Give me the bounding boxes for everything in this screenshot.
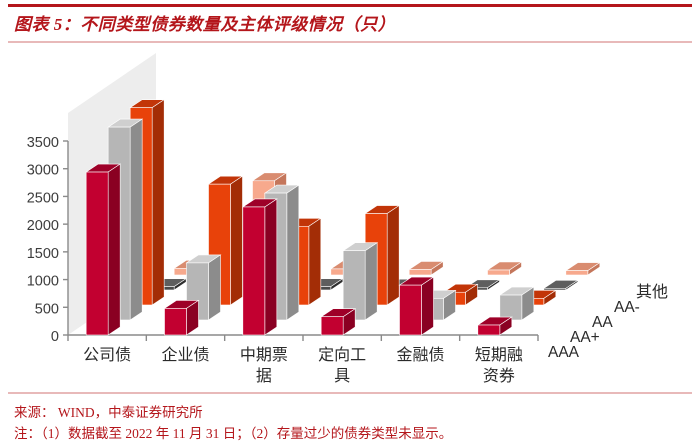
x-axis-category-label: 定向工 (318, 346, 366, 364)
x-axis-category-label: 据 (256, 367, 272, 385)
y-axis-tick-label: 3000 (27, 163, 59, 179)
page-title: 图表 5：不同类型债券数量及主体评级情况（只） (14, 10, 395, 35)
bar-其他-金融债 (488, 262, 522, 275)
y-axis-tick-label: 3500 (27, 135, 59, 151)
x-axis-category-label: 短期融 (475, 346, 523, 364)
header-rule-bottom (8, 41, 692, 43)
bar-AAA-公司债 (86, 164, 120, 335)
bar-side-face (309, 218, 321, 305)
x-axis-category-label: 金融债 (396, 346, 444, 364)
bar-side-face (387, 206, 399, 305)
bar-front-face (478, 325, 500, 335)
bar-side-face (108, 164, 120, 335)
x-axis-category-label: 资券 (483, 367, 515, 385)
bar-chart-3d: 0500100015002000250030003500公司债企业债中期票据定向… (0, 48, 700, 388)
depth-axis-legend: AAAAA+AAAA-其他 (548, 283, 668, 361)
bar-front-face (400, 285, 422, 335)
bar-side-face (231, 176, 243, 305)
chart-footer: 来源： WIND，中泰证券研究所 注：（1）数据截至 2022 年 11 月 3… (0, 392, 700, 445)
chart-plot-area: 0500100015002000250030003500公司债企业债中期票据定向… (0, 48, 700, 388)
y-axis-tick-label: 1500 (27, 246, 59, 262)
depth-axis-label-AAA: AAA (548, 344, 580, 361)
depth-axis-label-AA+: AA+ (570, 329, 600, 346)
chart-header: 图表 5：不同类型债券数量及主体评级情况（只） (0, 0, 700, 46)
bar-AAA-企业债 (165, 300, 199, 335)
bar-AAA-定向工具 (321, 309, 355, 335)
bar-AAA-短期融资券 (478, 317, 512, 335)
y-axis-tick-label: 1000 (27, 274, 59, 290)
bar-其他-定向工具 (409, 261, 443, 275)
bar-side-face (365, 243, 377, 320)
bar-front-face (165, 308, 187, 335)
bar-side-face (209, 255, 221, 320)
note-text: 注：（1）数据截至 2022 年 11 月 31 日；（2）存量过少的债券类型未… (14, 422, 452, 442)
bar-AA+-短期融资券 (500, 287, 534, 320)
bar-front-face (243, 207, 265, 335)
x-axis-category-label: 中期票 (240, 346, 288, 364)
value-axis: 0500100015002000250030003500 (27, 135, 68, 345)
bar-其他-短期融资券 (566, 263, 600, 275)
depth-axis-label-AA: AA (592, 314, 613, 331)
bar-front-face (566, 271, 588, 275)
y-axis-tick-label: 2500 (27, 190, 59, 206)
bar-side-face (287, 185, 299, 320)
bar-front-face (500, 295, 522, 320)
y-axis-tick-label: 500 (35, 301, 59, 317)
bar-front-face (488, 270, 510, 275)
bar-AAA-中期票据 (243, 199, 277, 335)
header-rule-top (8, 4, 692, 7)
bar-side-face (152, 100, 164, 305)
bar-front-face (409, 269, 431, 275)
bar-AAA-金融债 (400, 277, 434, 335)
x-axis-category-label: 具 (334, 368, 350, 385)
y-axis-tick-label: 0 (51, 329, 59, 345)
footer-rule (8, 392, 692, 394)
bar-side-face (130, 119, 142, 320)
depth-axis-label-AA-: AA- (614, 299, 640, 316)
bar-side-face (422, 277, 434, 335)
bar-front-face (86, 172, 108, 335)
x-axis-category-label: 企业债 (161, 346, 209, 364)
y-axis-tick-label: 2000 (27, 218, 59, 234)
bar-front-face (544, 288, 566, 290)
bar-AA--短期融资券 (544, 280, 578, 290)
x-axis-category-label: 公司债 (83, 346, 131, 364)
source-text: 来源： WIND，中泰证券研究所 (14, 401, 203, 421)
bar-front-face (321, 317, 343, 335)
bar-AA+-定向工具 (343, 243, 377, 320)
bar-side-face (265, 199, 277, 335)
depth-axis-label-其他: 其他 (636, 283, 668, 301)
category-axis: 公司债企业债中期票据定向工具金融债短期融资券 (68, 335, 538, 385)
